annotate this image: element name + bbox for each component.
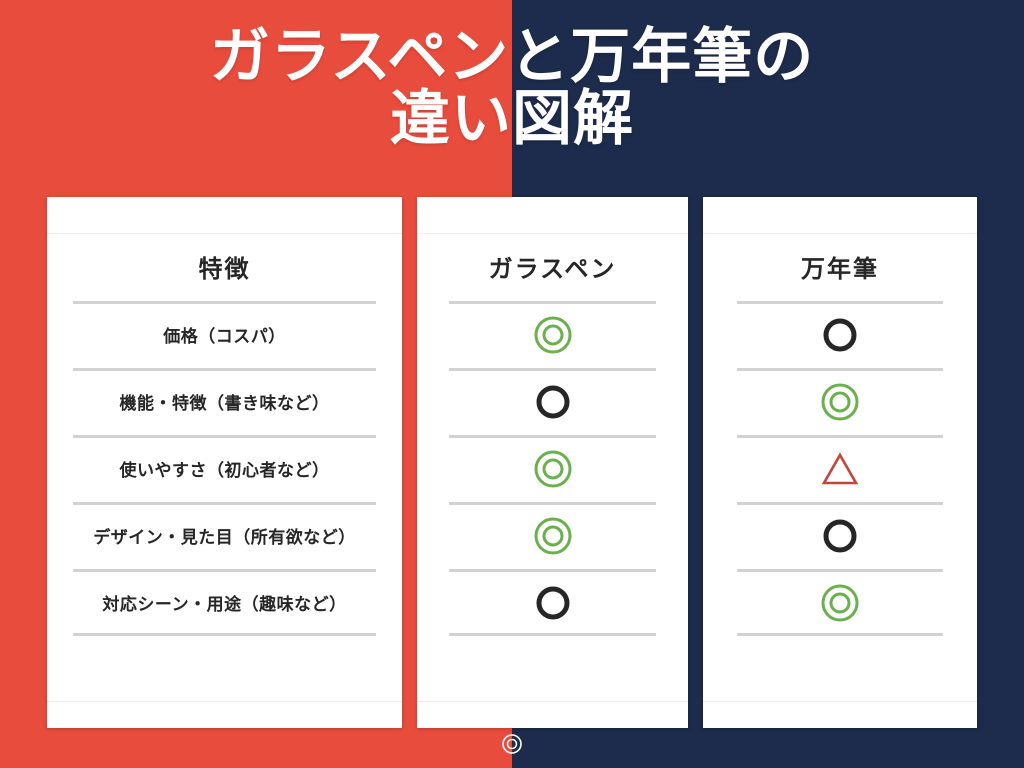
double-circle-icon xyxy=(533,449,573,489)
glass-pen-rows xyxy=(417,301,688,636)
comparison-table: 特徴 価格（コスパ） 機能・特徴（書き味など） 使いやすさ（初心者など） デザイ… xyxy=(0,197,1024,728)
row-label: 機能・特徴（書き味など） xyxy=(73,368,376,435)
table-row xyxy=(737,368,943,435)
column-header-feature: 特徴 xyxy=(47,249,402,284)
column-card-fountain-pen: 万年筆 xyxy=(703,197,977,728)
double-circle-icon xyxy=(501,742,523,759)
card-bottom-divider xyxy=(703,701,977,702)
rating-cell-glass-0 xyxy=(449,301,656,368)
table-row xyxy=(737,435,943,502)
rating-cell-glass-1 xyxy=(449,368,656,435)
table-row xyxy=(449,368,656,435)
fountain-pen-rows xyxy=(703,301,977,636)
row-label: デザイン・見た目（所有欲など） xyxy=(73,502,376,569)
row-divider xyxy=(449,633,656,636)
table-row: デザイン・見た目（所有欲など） xyxy=(73,502,376,569)
table-row xyxy=(449,301,656,368)
row-divider xyxy=(737,633,943,636)
rating-cell-fountain-3 xyxy=(737,502,943,569)
double-circle-icon xyxy=(820,583,860,623)
double-circle-icon xyxy=(820,382,860,422)
rating-cell-glass-3 xyxy=(449,502,656,569)
circle-icon xyxy=(820,315,860,355)
column-header-fountain-pen: 万年筆 xyxy=(703,249,977,284)
table-row: 対応シーン・用途（趣味など） xyxy=(73,569,376,636)
row-label: 対応シーン・用途（趣味など） xyxy=(73,569,376,636)
card-top-divider xyxy=(417,233,688,234)
rating-cell-fountain-1 xyxy=(737,368,943,435)
table-row: 機能・特徴（書き味など） xyxy=(73,368,376,435)
column-header-glass-pen: ガラスペン xyxy=(417,249,688,284)
card-bottom-divider xyxy=(47,701,402,702)
footer-badge xyxy=(0,733,1024,755)
card-bottom-divider xyxy=(417,701,688,702)
circle-icon xyxy=(533,382,573,422)
table-row xyxy=(449,435,656,502)
rating-cell-fountain-4 xyxy=(737,569,943,636)
table-row xyxy=(449,502,656,569)
column-card-glass-pen: ガラスペン xyxy=(417,197,688,728)
table-row xyxy=(449,569,656,636)
rating-cell-fountain-2 xyxy=(737,435,943,502)
page-title: ガラスペンと万年筆の 違い図解 xyxy=(0,26,1024,150)
double-circle-icon xyxy=(533,516,573,556)
row-label: 使いやすさ（初心者など） xyxy=(73,435,376,502)
rating-cell-glass-2 xyxy=(449,435,656,502)
row-divider xyxy=(73,633,376,636)
table-row: 価格（コスパ） xyxy=(73,301,376,368)
triangle-icon xyxy=(820,451,860,487)
table-row: 使いやすさ（初心者など） xyxy=(73,435,376,502)
double-circle-icon xyxy=(533,315,573,355)
table-row xyxy=(737,569,943,636)
circle-icon xyxy=(820,516,860,556)
rating-cell-glass-4 xyxy=(449,569,656,636)
column-card-feature: 特徴 価格（コスパ） 機能・特徴（書き味など） 使いやすさ（初心者など） デザイ… xyxy=(47,197,402,728)
row-label: 価格（コスパ） xyxy=(73,301,376,368)
feature-rows: 価格（コスパ） 機能・特徴（書き味など） 使いやすさ（初心者など） デザイン・見… xyxy=(47,301,402,636)
circle-icon xyxy=(533,583,573,623)
table-row xyxy=(737,301,943,368)
table-row xyxy=(737,502,943,569)
rating-cell-fountain-0 xyxy=(737,301,943,368)
card-top-divider xyxy=(47,233,402,234)
card-top-divider xyxy=(703,233,977,234)
